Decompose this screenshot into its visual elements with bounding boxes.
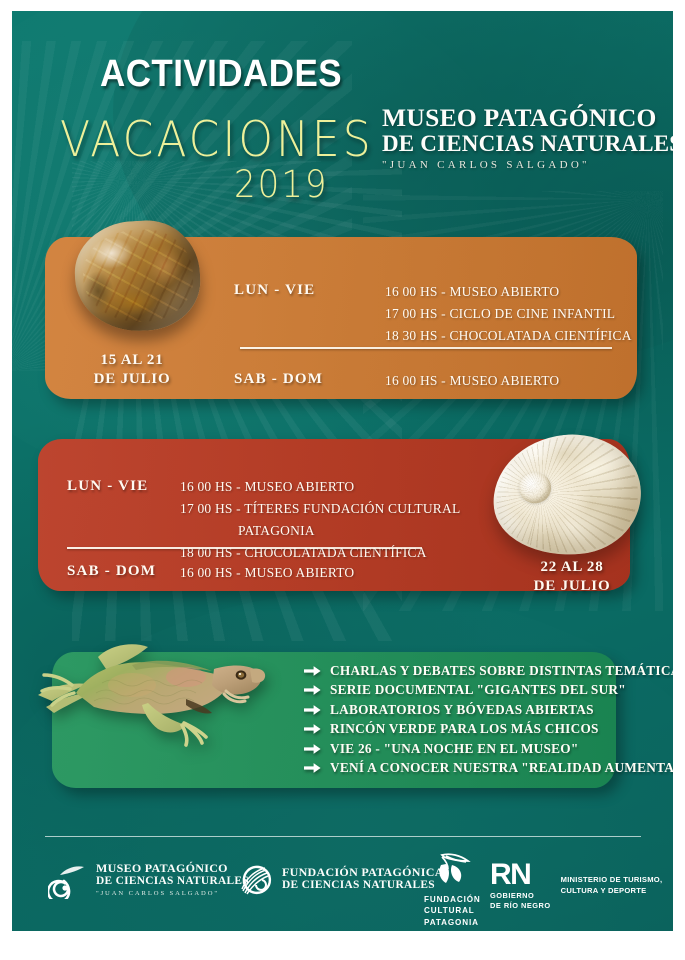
arrow-right-icon [304,703,321,717]
list-item: RINCÓN VERDE PARA LOS MÁS CHICOS [304,720,673,740]
week1-date-line-2: DE JULIO [72,370,192,389]
institution-line-3: "JUAN CARLOS SALGADO" [382,159,673,171]
logo-line-1: FUNDACIÓN PATAGÓNICA [282,865,444,879]
list-item: VENÍ A CONOCER NUESTRA "REALIDAD AUMENTA… [304,759,673,779]
logo-line-1: MUSEO PATAGÓNICO [96,861,249,875]
week2-row1-day: LUN - VIE [67,478,148,495]
headline-year: 2019 [234,163,329,207]
highlight-text: VIE 26 - "UNA NOCHE EN EL MUSEO" [330,741,578,757]
list-item: LABORATORIOS Y BÓVEDAS ABIERTAS [304,700,673,720]
week2-row1-events: 16 00 HS - MUSEO ABIERTO 17 00 HS - TÍTE… [180,476,460,563]
footer-divider [45,836,641,837]
week1-row2-day: SAB - DOM [234,371,323,388]
poster-canvas: ACTIVIDADES VACACIONES 2019 MUSEO PATAGÓ… [12,11,673,931]
week1-row1-event-2: 17 00 HS - CICLO DE CINE INFANTIL [385,303,632,325]
leaf-bird-icon [428,851,476,891]
institution-line-2: DE CIENCIAS NATURALES [382,131,673,156]
lizard-illustration [36,637,266,749]
arrow-right-icon [304,683,321,697]
poster-header: ACTIVIDADES VACACIONES 2019 MUSEO PATAGÓ… [12,11,673,201]
week1-date-line-1: 15 AL 21 [72,351,192,370]
week2-row1-event-1: 16 00 HS - MUSEO ABIERTO [180,476,460,498]
list-item: SERIE DOCUMENTAL "GIGANTES DEL SUR" [304,681,673,701]
highlight-text: VENÍ A CONOCER NUESTRA "REALIDAD AUMENTA… [330,760,673,776]
week2-divider [67,547,422,549]
list-item: CHARLAS Y DEBATES SOBRE DISTINTAS TEMÁTI… [304,661,673,681]
week2-row1-event-3: 18 00 HS - CHOCOLATADA CIENTÍFICA [180,542,460,564]
week1-row1-event-1: 16 00 HS - MUSEO ABIERTO [385,281,632,303]
institution-title: MUSEO PATAGÓNICO DE CIENCIAS NATURALES "… [382,104,673,171]
week2-date-line-2: DE JULIO [512,577,632,596]
arrow-right-icon [304,742,321,756]
ministry-line-2: CULTURA Y DEPORTE [561,886,663,897]
highlight-text: LABORATORIOS Y BÓVEDAS ABIERTAS [330,702,594,718]
week2-row1-event-2: 17 00 HS - TÍTERES FUNDACIÓN CULTURAL [180,498,460,520]
week1-row2-event-1: 16 00 HS - MUSEO ABIERTO [385,370,559,392]
week2-row2-day: SAB - DOM [67,563,156,580]
week1-row1-event-3: 18 30 HS - CHOCOLATADA CIENTÍFICA [385,325,632,347]
spiral-feather-icon [234,859,274,899]
arrow-right-icon [304,664,321,678]
fcp-line-2: CULTURAL [424,905,481,916]
arrow-right-icon [304,761,321,775]
week2-date-tag: 22 AL 28 DE JULIO [512,558,632,596]
rn-wordmark: RN [490,861,551,889]
rn-sub-line-1: GOBIERNO [490,891,551,901]
highlight-text: CHARLAS Y DEBATES SOBRE DISTINTAS TEMÁTI… [330,663,673,679]
lizard-photo [36,637,266,749]
headline-vacaciones: VACACIONES [60,111,374,168]
week2-row2-event-1: 16 00 HS - MUSEO ABIERTO [180,562,354,584]
week1-row1-day: LUN - VIE [234,282,315,299]
institution-line-1: MUSEO PATAGÓNICO [382,104,673,131]
spiral-leaf-icon [48,859,88,899]
fcp-line-1: FUNDACIÓN [424,894,481,905]
week1-date-tag: 15 AL 21 DE JULIO [72,351,192,389]
ministry-line-1: MINISTERIO DE TURISMO, [561,875,663,886]
footer-logos: MUSEO PATAGÓNICO DE CIENCIAS NATURALES "… [12,851,673,931]
logo-fundacion-patagonica: FUNDACIÓN PATAGÓNICA DE CIENCIAS NATURAL… [234,859,444,899]
logo-rio-negro: RN GOBIERNO DE RÍO NEGRO MINISTERIO DE T… [490,861,662,910]
week2-row1-event-2-cont: PATAGONIA [180,520,460,542]
week1-divider [240,347,612,349]
fcp-line-3: PATAGONIA [424,917,481,928]
rn-sub-line-2: DE RÍO NEGRO [490,901,551,911]
logo-museo-patagonico: MUSEO PATAGÓNICO DE CIENCIAS NATURALES "… [48,859,249,899]
highlight-text: RINCÓN VERDE PARA LOS MÁS CHICOS [330,721,599,737]
logo-line-2: DE CIENCIAS NATURALES [282,879,444,892]
week2-row2-events: 16 00 HS - MUSEO ABIERTO [180,562,354,584]
week2-date-line-1: 22 AL 28 [512,558,632,577]
highlights-list: CHARLAS Y DEBATES SOBRE DISTINTAS TEMÁTI… [304,661,673,778]
week1-row2-events: 16 00 HS - MUSEO ABIERTO [385,370,559,392]
week1-row1-events: 16 00 HS - MUSEO ABIERTO 17 00 HS - CICL… [385,281,632,347]
highlight-text: SERIE DOCUMENTAL "GIGANTES DEL SUR" [330,682,626,698]
logo-line-3: "JUAN CARLOS SALGADO" [96,890,249,897]
headline-actividades: ACTIVIDADES [100,53,342,96]
logo-fundacion-cultural-patagonia: FUNDACIÓN CULTURAL PATAGONIA [424,851,481,928]
list-item: VIE 26 - "UNA NOCHE EN EL MUSEO" [304,739,673,759]
arrow-right-icon [304,722,321,736]
logo-line-2: DE CIENCIAS NATURALES [96,875,249,888]
